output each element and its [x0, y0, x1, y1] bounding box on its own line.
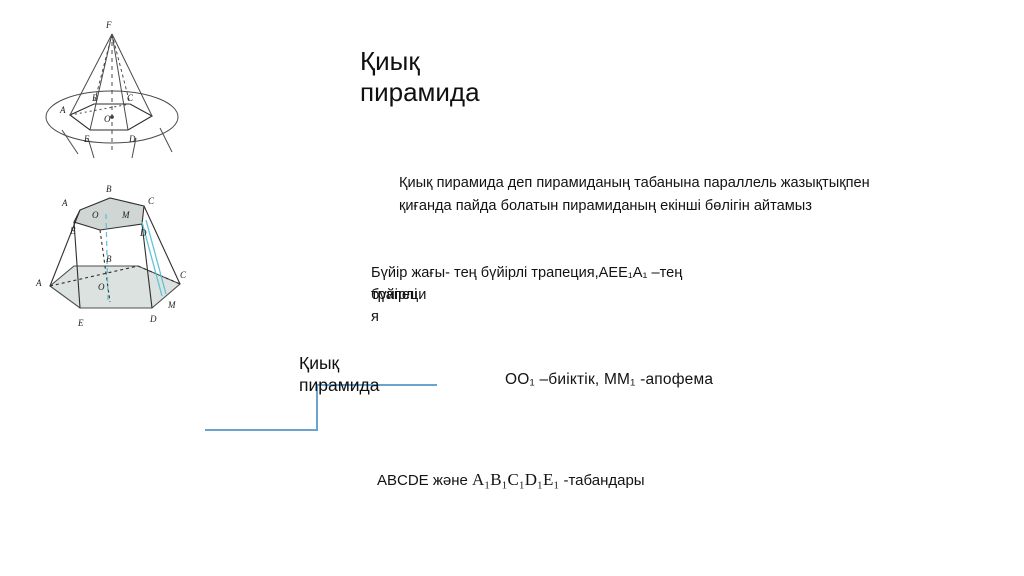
pyramid-figure: F A B C O E D	[32, 12, 192, 160]
frustum-label-B: B	[106, 254, 112, 264]
frustum-label-A1: A	[61, 198, 68, 208]
frustum-label-C: C	[180, 270, 187, 280]
page-title: Қиық пирамида	[360, 46, 660, 108]
frustum-label-B1: B	[106, 184, 112, 194]
frustum-label-D1: D	[139, 228, 147, 238]
frustum-label-E: E	[77, 318, 84, 328]
height-apothem-text: OO₁ –биіктік, MM₁ -апофема	[505, 371, 713, 389]
definition-text: Қиық пирамида деп пирамиданың табанына п…	[399, 172, 899, 217]
frustum-label-D: D	[149, 314, 157, 324]
lateral-face-line1: Бүйір жағы- тең бүйірлі трапеция,AEE₁A₁ …	[371, 262, 901, 284]
figure-label-O: O	[104, 114, 111, 124]
figure-label-C1: C	[127, 93, 134, 103]
overlap-text-tail: я	[371, 306, 379, 328]
frustum-label-O1: O	[92, 210, 99, 220]
frustum-label-M1: M	[121, 210, 130, 220]
frustum-label-C1: C	[148, 196, 155, 206]
figure-label-E: E	[83, 134, 90, 144]
lateral-face-overlap: бүйірлі трапеци я	[371, 284, 631, 324]
bases-prefix: ABCDE және	[377, 472, 468, 489]
frustum-label-E1: E	[69, 226, 76, 236]
frustum-label-A: A	[35, 278, 42, 288]
sublabel-text: Қиық пирамида	[299, 352, 439, 396]
frustum-figure: A B C D E O M A B C D E O M	[22, 162, 208, 334]
slide-canvas: F A B C O E D A B	[0, 0, 1024, 576]
frustum-label-M: M	[167, 300, 176, 310]
figure-label-F: F	[105, 20, 112, 30]
bases-suffix: -табандары	[563, 472, 644, 489]
frustum-label-O: O	[98, 282, 105, 292]
figure-label-B1: B	[92, 93, 98, 103]
bases-text: ABCDE және A₁B₁C₁D₁E₁ -табандары	[377, 470, 645, 490]
overlap-text-b: трапеци	[371, 284, 426, 306]
figure-label-D1: D	[128, 134, 136, 144]
figure-label-A: A	[59, 105, 66, 115]
bases-math: A₁B₁C₁D₁E₁	[472, 470, 559, 489]
